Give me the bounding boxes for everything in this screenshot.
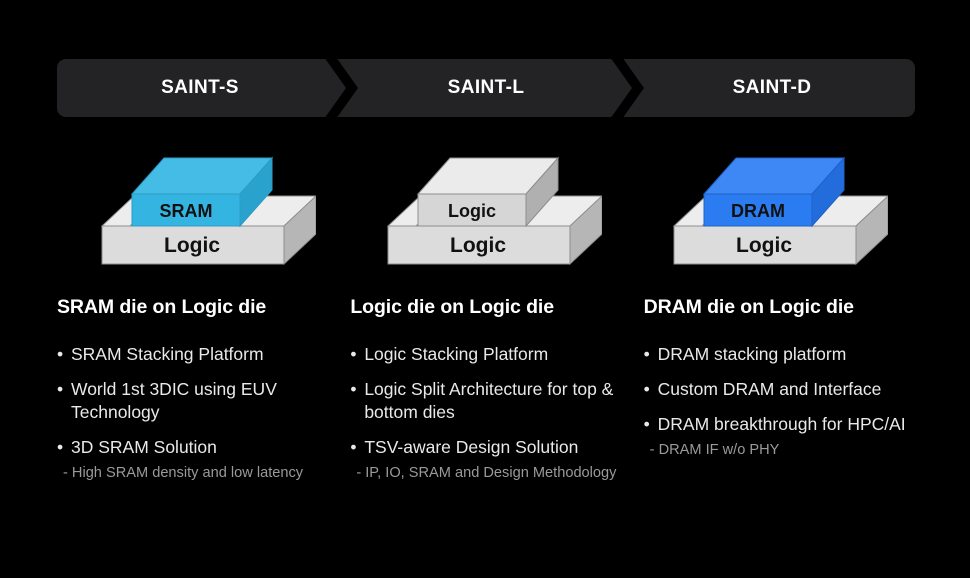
column-title: DRAM die on Logic die [644,296,923,319]
bullet-subnote: - IP, IO, SRAM and Design Methodology [356,463,629,483]
bullet-dot: • [350,378,356,401]
saint-s-stack: Logic SRAM [84,134,316,284]
list-item: • Logic Stacking Platform [350,343,629,366]
column-saint-l: Logic die on Logic die • Logic Stacking … [350,296,643,546]
bullet-text: 3D SRAM Solution [71,437,217,457]
column-title: SRAM die on Logic die [57,296,336,319]
list-item: • SRAM Stacking Platform [57,343,336,366]
bullet-dot: • [644,343,650,366]
saint-d-stack: Logic DRAM [656,134,888,284]
bullet-subnote: - DRAM IF w/o PHY [650,440,923,460]
top-die-label: DRAM [731,201,785,221]
bullet-text: World 1st 3DIC using EUV Technology [71,379,277,422]
stack-cell-saint-d: Logic DRAM [629,134,915,284]
feature-columns: SRAM die on Logic die • SRAM Stacking Pl… [57,296,937,546]
bullet-text: Logic Stacking Platform [364,344,548,364]
bottom-die-label: Logic [736,234,792,257]
bullet-dot: • [57,343,63,366]
bullet-text: SRAM Stacking Platform [71,344,264,364]
stack-cell-saint-l: Logic Logic [343,134,629,284]
column-title: Logic die on Logic die [350,296,629,319]
bottom-die-label: Logic [164,234,220,257]
bullet-dot: • [644,378,650,401]
phase-label: SAINT-S [161,77,239,99]
list-item: • DRAM stacking platform [644,343,923,366]
die-stack-illustrations: Logic SRAM Logic Logic [57,134,915,284]
bullet-text: Logic Split Architecture for top & botto… [364,379,613,422]
bullet-list: • DRAM stacking platform • Custom DRAM a… [644,343,923,460]
list-item: • 3D SRAM Solution - High SRAM density a… [57,436,336,483]
list-item: • Logic Split Architecture for top & bot… [350,378,629,424]
bullet-subnote: - High SRAM density and low latency [63,463,336,483]
bullet-dot: • [350,436,356,459]
bullet-text: DRAM breakthrough for HPC/AI [658,414,906,434]
list-item: • DRAM breakthrough for HPC/AI - DRAM IF… [644,413,923,460]
stack-cell-saint-s: Logic SRAM [57,134,343,284]
column-saint-s: SRAM die on Logic die • SRAM Stacking Pl… [57,296,350,546]
bullet-dot: • [350,343,356,366]
phase-item-saint-s[interactable]: SAINT-S [57,59,343,117]
bullet-dot: • [644,413,650,436]
saint-l-stack: Logic Logic [370,134,602,284]
bottom-die-label: Logic [450,234,506,257]
phase-progress-bar: SAINT-S SAINT-L SAINT-D [57,59,915,117]
bullet-dot: • [57,436,63,459]
top-die-label: SRAM [160,201,213,221]
phase-item-saint-d[interactable]: SAINT-D [629,59,915,117]
bullet-text: Custom DRAM and Interface [658,379,882,399]
bullet-dot: • [57,378,63,401]
bullet-text: DRAM stacking platform [658,344,847,364]
phase-label: SAINT-D [733,77,812,99]
slide-frame: SAINT-S SAINT-L SAINT-D [0,0,970,578]
list-item: • TSV-aware Design Solution - IP, IO, SR… [350,436,629,483]
bullet-list: • SRAM Stacking Platform • World 1st 3DI… [57,343,336,484]
phase-label: SAINT-L [448,77,525,99]
column-saint-d: DRAM die on Logic die • DRAM stacking pl… [644,296,937,546]
phase-item-saint-l[interactable]: SAINT-L [343,59,629,117]
bullet-list: • Logic Stacking Platform • Logic Split … [350,343,629,484]
top-die-label: Logic [448,201,496,221]
bullet-text: TSV-aware Design Solution [364,437,578,457]
list-item: • World 1st 3DIC using EUV Technology [57,378,336,424]
list-item: • Custom DRAM and Interface [644,378,923,401]
